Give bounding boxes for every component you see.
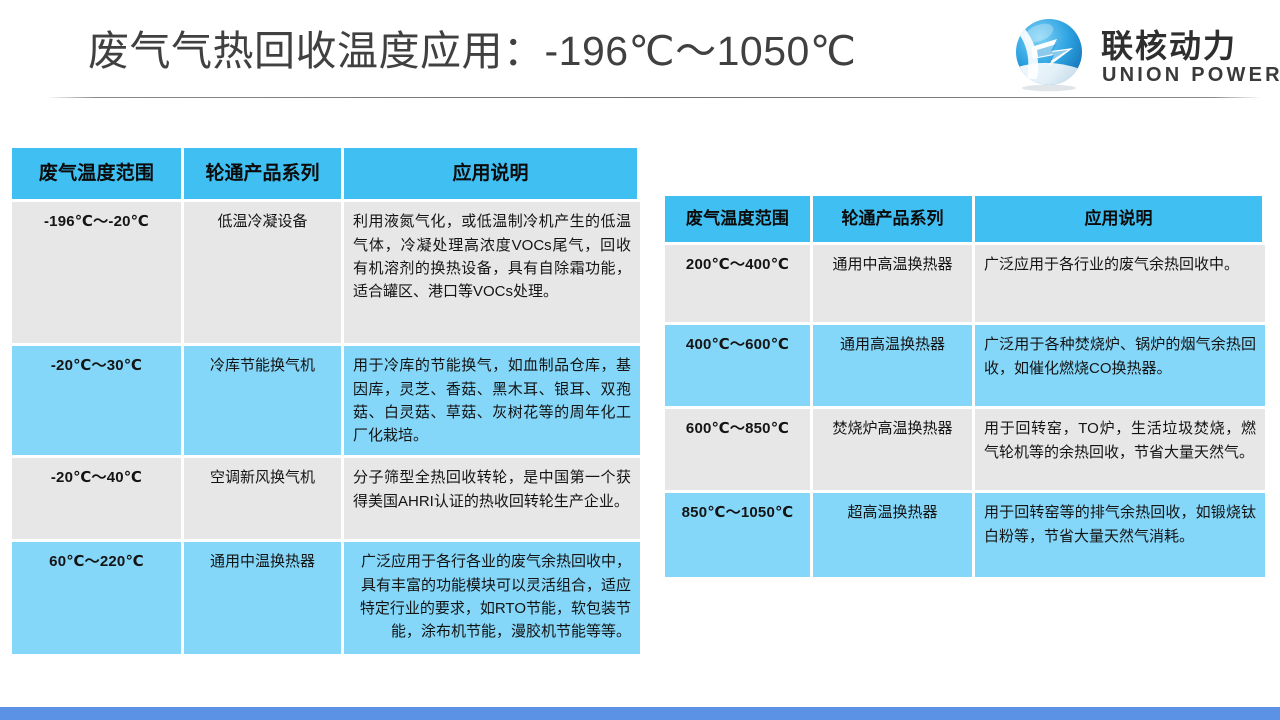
column-header-product-series: 轮通产品系列: [184, 148, 344, 199]
logo-name-cn: 联核动力: [1101, 21, 1237, 67]
table-row: 400℃～600℃ 通用高温换热器 广泛用于各种焚烧炉、锅炉的烟气余热回收，如催…: [665, 325, 1265, 409]
cell-product-series: 低温冷凝设备: [184, 202, 344, 343]
cell-temperature-range: -20℃～30℃: [12, 346, 184, 455]
cell-application-note: 广泛应用于各行各业的废气余热回收中，具有丰富的功能模块可以灵活组合，适应特定行业…: [344, 542, 640, 654]
column-header-product-series: 轮通产品系列: [813, 196, 975, 242]
table-row: 60℃～220℃ 通用中温换热器 广泛应用于各行各业的废气余热回收中，具有丰富的…: [12, 542, 640, 654]
table-row: 200℃～400℃ 通用中高温换热器 广泛应用于各行业的废气余热回收中。: [665, 245, 1265, 325]
temperature-application-table-left: 废气温度范围 轮通产品系列 应用说明 -196℃～-20℃ 低温冷凝设备 利用液…: [12, 148, 640, 654]
column-header-application-note: 应用说明: [344, 148, 640, 199]
cell-application-note: 用于回转窑，TO炉，生活垃圾焚烧，燃气轮机等的余热回收，节省大量天然气。: [975, 409, 1265, 490]
cell-application-note: 广泛应用于各行业的废气余热回收中。: [975, 245, 1265, 322]
footer-accent-bar: [0, 707, 1280, 720]
cell-product-series: 空调新风换气机: [184, 458, 344, 539]
cell-application-note: 广泛用于各种焚烧炉、锅炉的烟气余热回收，如催化燃烧CO换热器。: [975, 325, 1265, 406]
cell-temperature-range: 60℃～220℃: [12, 542, 184, 654]
cell-temperature-range: -20℃～40℃: [12, 458, 184, 539]
title-divider: [46, 97, 1262, 98]
company-logo: 联核动力 UNION POWER: [1013, 17, 1263, 93]
cell-product-series: 超高温换热器: [813, 493, 975, 577]
table-row: -20℃～40℃ 空调新风换气机 分子筛型全热回收转轮，是中国第一个获得美国AH…: [12, 458, 640, 542]
cell-product-series: 冷库节能换气机: [184, 346, 344, 455]
cell-product-series: 焚烧炉高温换热器: [813, 409, 975, 490]
table-row: -20℃～30℃ 冷库节能换气机 用于冷库的节能换气，如血制品仓库，基因库，灵芝…: [12, 346, 640, 458]
column-header-temperature-range: 废气温度范围: [12, 148, 184, 199]
sphere-arrow-logo-icon: [1013, 17, 1089, 93]
table-row: 600℃～850℃ 焚烧炉高温换热器 用于回转窑，TO炉，生活垃圾焚烧，燃气轮机…: [665, 409, 1265, 493]
cell-application-note: 分子筛型全热回收转轮，是中国第一个获得美国AHRI认证的热收回转轮生产企业。: [344, 458, 640, 539]
cell-application-note: 用于回转窑等的排气余热回收，如锻烧钛白粉等，节省大量天然气消耗。: [975, 493, 1265, 577]
cell-product-series: 通用高温换热器: [813, 325, 975, 406]
table-header-row: 废气温度范围 轮通产品系列 应用说明: [665, 196, 1265, 245]
cell-product-series: 通用中高温换热器: [813, 245, 975, 322]
table-header-row: 废气温度范围 轮通产品系列 应用说明: [12, 148, 640, 202]
cell-temperature-range: -196℃～-20℃: [12, 202, 184, 343]
cell-product-series: 通用中温换热器: [184, 542, 344, 654]
cell-application-note: 用于冷库的节能换气，如血制品仓库，基因库，灵芝、香菇、黑木耳、银耳、双孢菇、白灵…: [344, 346, 640, 455]
column-header-temperature-range: 废气温度范围: [665, 196, 813, 242]
temperature-application-table-right: 废气温度范围 轮通产品系列 应用说明 200℃～400℃ 通用中高温换热器 广泛…: [665, 196, 1265, 577]
table-row: -196℃～-20℃ 低温冷凝设备 利用液氮气化，或低温制冷机产生的低温气体，冷…: [12, 202, 640, 346]
logo-name-en: UNION POWER: [1102, 64, 1280, 87]
table-row: 850℃～1050℃ 超高温换热器 用于回转窑等的排气余热回收，如锻烧钛白粉等，…: [665, 493, 1265, 577]
cell-temperature-range: 600℃～850℃: [665, 409, 813, 490]
cell-temperature-range: 850℃～1050℃: [665, 493, 813, 577]
page-title: 废气气热回收温度应用：-196℃～1050℃: [88, 27, 856, 76]
cell-temperature-range: 400℃～600℃: [665, 325, 813, 406]
column-header-application-note: 应用说明: [975, 196, 1265, 242]
cell-temperature-range: 200℃～400℃: [665, 245, 813, 322]
cell-application-note: 利用液氮气化，或低温制冷机产生的低温气体，冷凝处理高浓度VOCs尾气，回收有机溶…: [344, 202, 640, 343]
